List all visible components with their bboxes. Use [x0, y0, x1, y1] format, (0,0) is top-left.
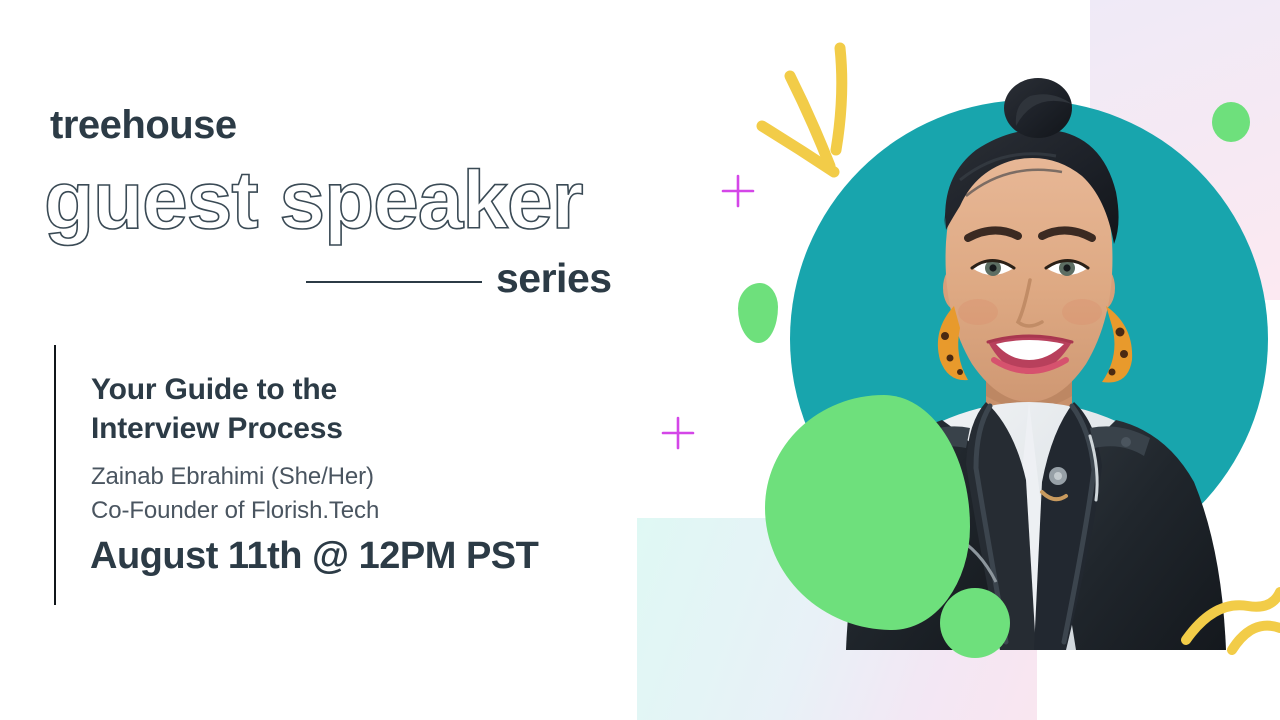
- speaker-credit: Zainab Ebrahimi (She/Her) Co-Founder of …: [91, 460, 611, 528]
- event-datetime: August 11th @ 12PM PST: [90, 537, 538, 575]
- magenta-plus-icon: [723, 176, 753, 206]
- speaker-name: Zainab Ebrahimi (She/Her): [91, 460, 611, 494]
- talk-title: Your Guide to the Interview Process: [91, 370, 611, 448]
- earring-right: [1102, 306, 1132, 383]
- speaker-role: Co-Founder of Florish.Tech: [91, 494, 611, 528]
- brand-wordmark: treehouse: [50, 105, 237, 145]
- headline-outline-text: guest speaker: [44, 160, 583, 242]
- talk-title-line-1: Your Guide to the: [91, 370, 611, 409]
- series-label: series: [496, 258, 612, 299]
- green-dot-icon: [1212, 102, 1250, 142]
- green-dot-icon: [940, 588, 1010, 658]
- series-divider: [306, 281, 482, 283]
- talk-title-line-2: Interview Process: [91, 409, 611, 448]
- green-blob-icon: [738, 283, 778, 343]
- magenta-plus-icon: [663, 418, 693, 448]
- promo-graphic: treehouse guest speaker series Your Guid…: [0, 0, 1280, 720]
- left-accent-rule: [54, 345, 56, 605]
